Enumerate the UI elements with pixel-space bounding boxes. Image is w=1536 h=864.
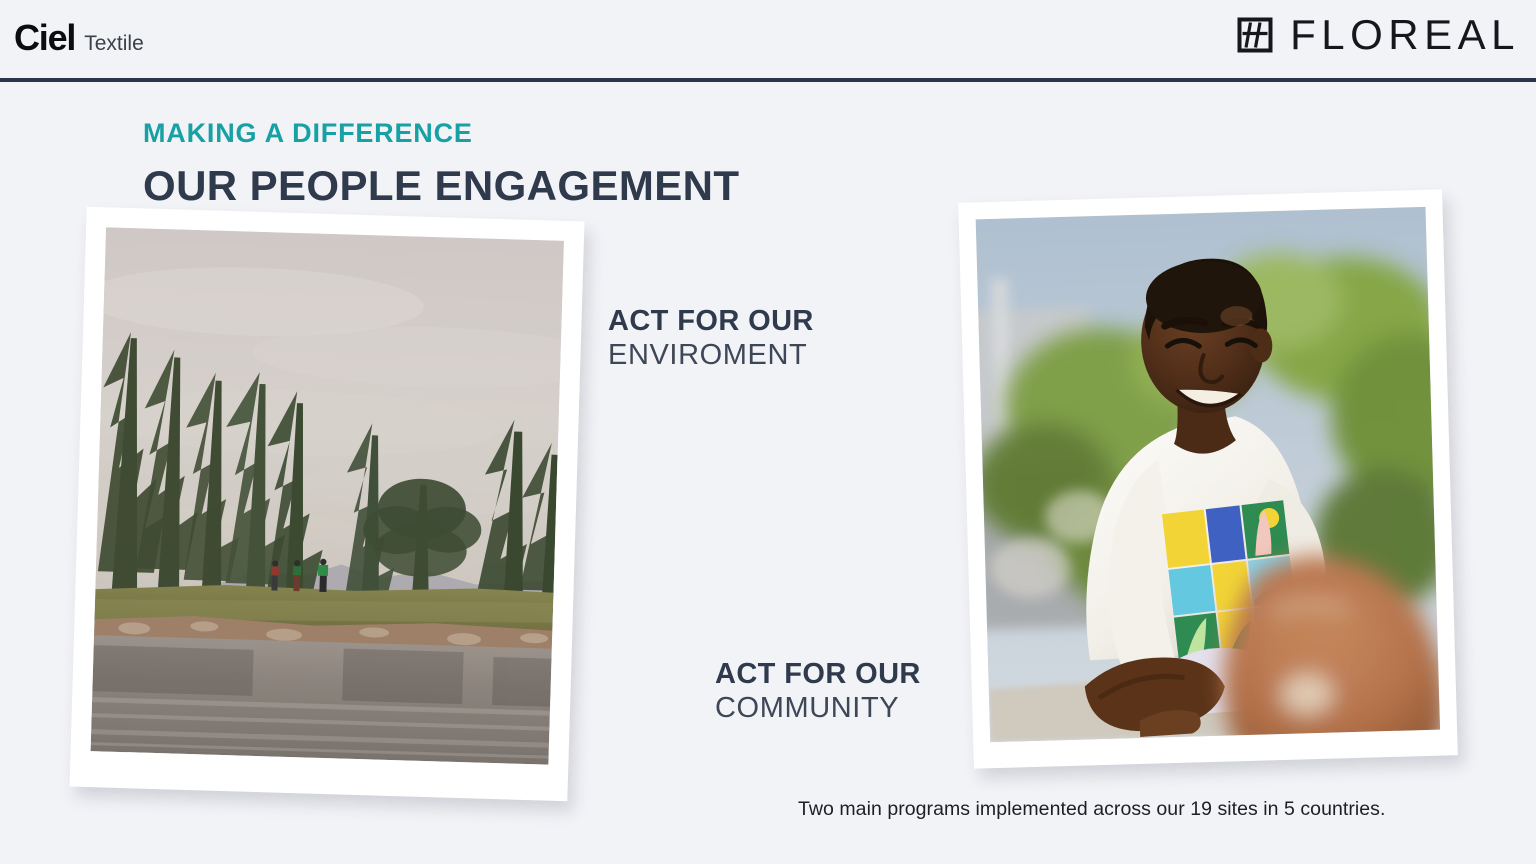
ciel-textile-subtitle: Textile [84,33,144,54]
floreal-window-mark-icon [1237,17,1273,53]
program-community-strong: ACT FOR OUR [715,658,921,692]
program-environment-light: ENVIROMENT [608,339,814,373]
slide-eyebrow: MAKING A DIFFERENCE [143,120,473,147]
slide-title: OUR PEOPLE ENGAGEMENT [143,162,739,210]
ciel-wordmark: Ciel [14,20,75,56]
program-community-light: COMMUNITY [715,692,921,726]
floreal-wordmark: FLOREAL [1290,14,1520,56]
floreal-logo: FLOREAL [1237,14,1520,56]
ciel-textile-logo: Ciel Textile [14,20,144,56]
program-environment-strong: ACT FOR OUR [608,305,814,339]
photo-environment [70,207,585,802]
header-divider [0,78,1536,82]
slide-header: Ciel Textile FLOREAL [0,0,1536,80]
slide-footnote: Two main programs implemented across our… [798,798,1385,821]
photo-community [958,189,1458,768]
program-label-community: ACT FOR OUR COMMUNITY [715,658,921,725]
photo-community-image [976,207,1440,742]
program-label-environment: ACT FOR OUR ENVIROMENT [608,305,814,372]
photo-environment-image [91,227,564,764]
